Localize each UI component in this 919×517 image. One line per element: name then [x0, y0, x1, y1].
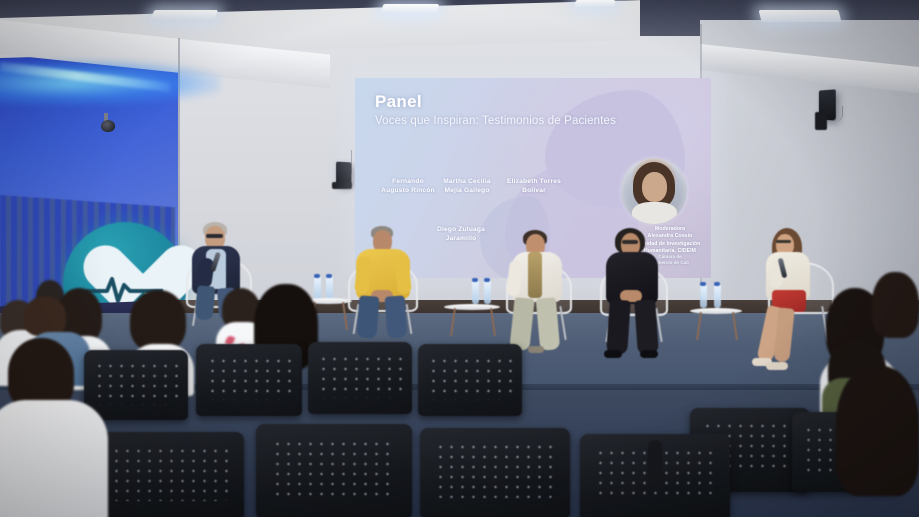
- audience-chair-front[interactable]: [96, 432, 244, 517]
- audience-chair[interactable]: [308, 342, 412, 414]
- speaker-bracket: [332, 182, 352, 189]
- bottle-cap: [314, 274, 320, 278]
- speaker-bracket: [815, 112, 827, 130]
- portrait-body: [632, 202, 677, 224]
- slide-panelist-name: Martha Cecilia Mejía Gallego: [431, 178, 503, 196]
- chair-perforation: [318, 354, 401, 399]
- panelist-shoe: [528, 346, 544, 353]
- panelist-leg: [634, 299, 659, 354]
- panelist-leg: [357, 295, 380, 338]
- bottle-cap: [326, 274, 332, 278]
- water-bottle: [326, 276, 333, 300]
- panelist-leg: [385, 295, 408, 338]
- auditorium-panel-photo: Panel Voces que Inspiran: Testimonios de…: [0, 0, 919, 517]
- eyeglasses-icon: [776, 240, 791, 243]
- bottle-cap: [714, 282, 720, 286]
- moderator-sandal: [766, 362, 788, 370]
- chair-armrest: [648, 440, 662, 486]
- water-bottle: [714, 284, 721, 308]
- panelist-shoe: [640, 350, 658, 358]
- ceiling-light-icon: [759, 10, 842, 22]
- chair-perforation: [272, 439, 397, 497]
- scarf: [528, 252, 542, 298]
- slide-moderator-portrait: [621, 158, 687, 224]
- audience-hair: [130, 290, 186, 352]
- panelist-leg: [606, 299, 631, 354]
- chair-perforation: [207, 356, 292, 401]
- audience-chair-front[interactable]: [256, 424, 412, 517]
- water-bottle: [700, 284, 707, 308]
- audience-hair: [872, 272, 919, 338]
- ceiling-light-icon: [381, 4, 439, 14]
- audience-chair[interactable]: [418, 344, 522, 416]
- audience-hair: [836, 366, 919, 496]
- slide-title: Panel: [375, 92, 422, 112]
- panelist-shoe: [604, 350, 622, 358]
- audience-chair[interactable]: [196, 344, 302, 416]
- chair-perforation: [94, 361, 177, 404]
- ceiling-light-icon: [574, 0, 615, 8]
- chair-perforation: [435, 442, 555, 498]
- portrait-face: [642, 172, 667, 202]
- eyeglasses-icon: [622, 240, 638, 244]
- slide-panelist-name: Diego Zuluaga Jaramillo: [423, 226, 499, 244]
- water-bottle: [484, 280, 491, 304]
- bottle-cap: [472, 278, 478, 282]
- audience-chair[interactable]: [84, 350, 188, 420]
- chair-perforation: [428, 356, 511, 401]
- panelist-leg: [195, 285, 216, 320]
- slide-subtitle: Voces que Inspiran: Testimonios de Pacie…: [375, 115, 616, 127]
- audience-white-shirt: [0, 400, 108, 517]
- ceiling-light-icon: [150, 10, 218, 21]
- audience-chair-front[interactable]: [420, 428, 570, 517]
- eyeglasses-icon: [206, 234, 223, 238]
- chair-perforation: [111, 446, 229, 501]
- slide-panelist-name: Elizabeth Torres Bolívar: [495, 178, 573, 196]
- audience-head: [24, 296, 66, 336]
- water-bottle: [314, 276, 321, 300]
- bottle-cap: [484, 278, 490, 282]
- bottle-cap: [700, 282, 706, 286]
- security-camera-icon: [101, 120, 115, 132]
- water-bottle: [472, 280, 479, 304]
